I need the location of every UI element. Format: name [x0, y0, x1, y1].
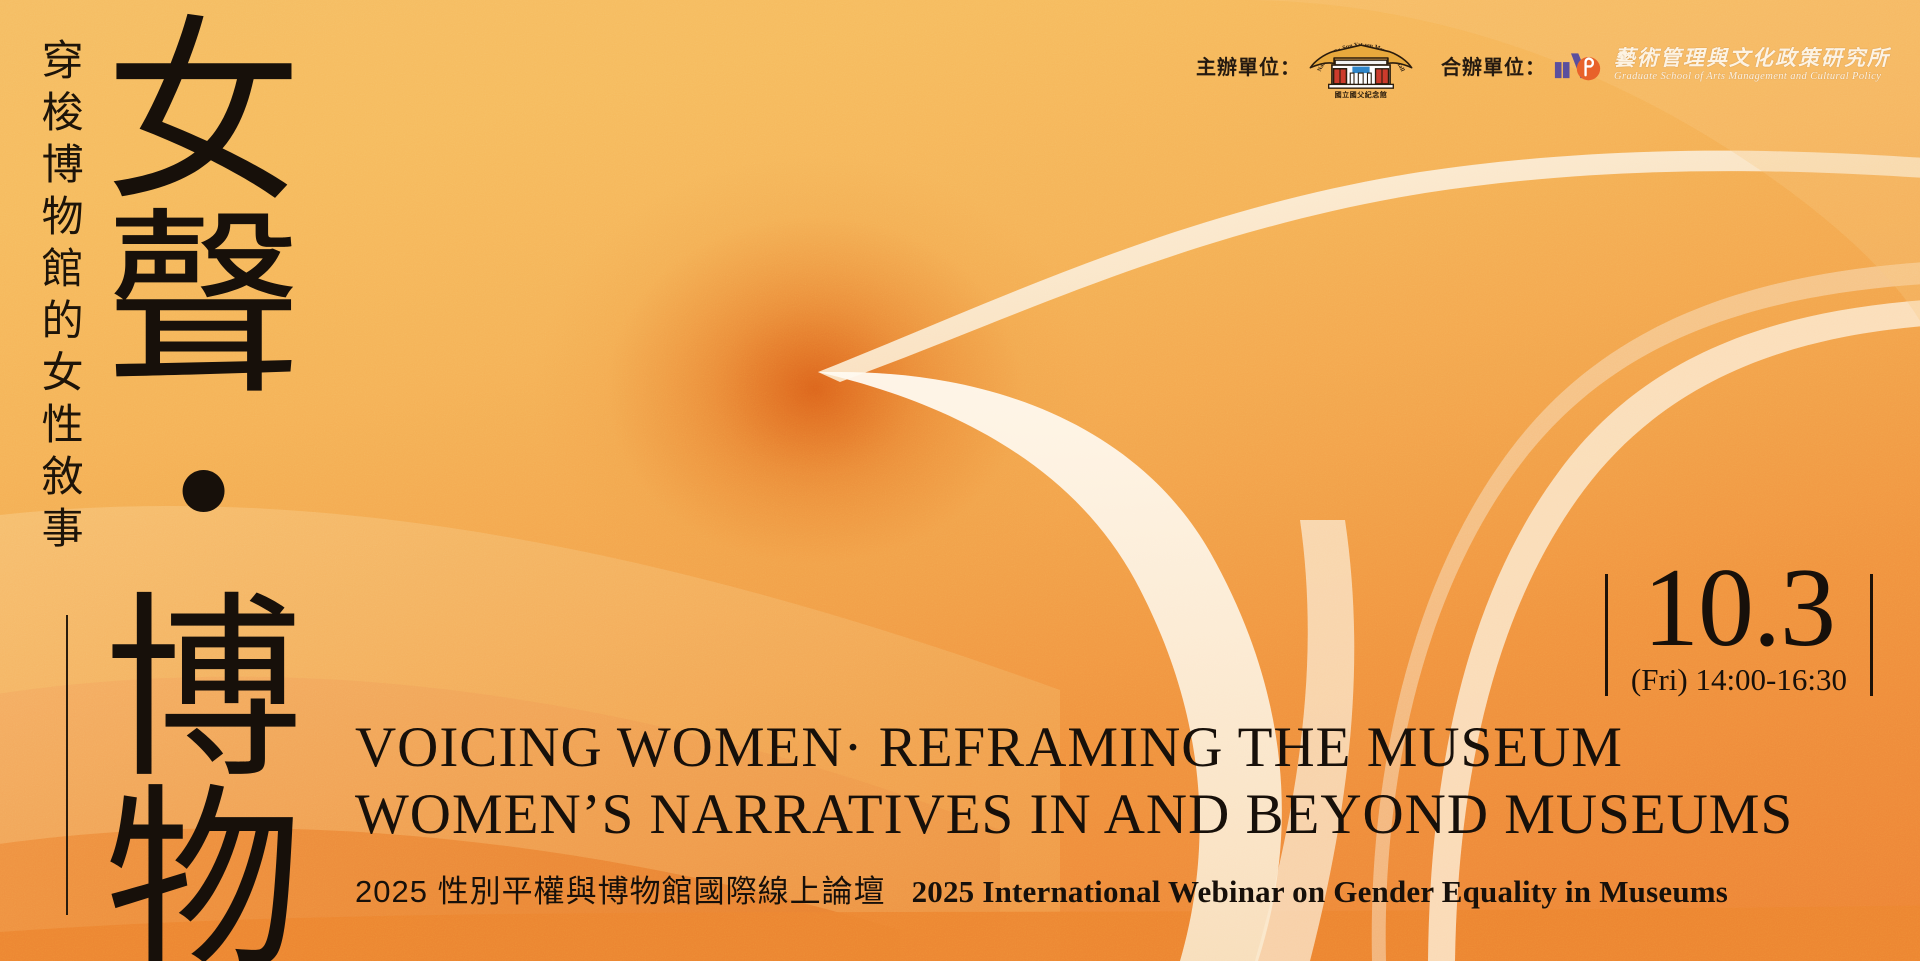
graduate-school-arts-management-logo: 藝術管理與文化政策研究所 Graduate School of Arts Man…	[1552, 46, 1890, 84]
vertical-main-title: 女聲・博物	[88, 8, 280, 961]
event-subtitle-chinese: 2025 性別平權與博物館國際線上論壇	[355, 866, 886, 911]
svg-text:國立國父紀念館: 國立國父紀念館	[1335, 90, 1388, 99]
mcp-monogram-icon	[1552, 46, 1606, 84]
national-dr-sun-yat-sen-memorial-hall-logo: National Dr. Sun Yat-sen Memorial Hall	[1307, 30, 1415, 100]
co-organiser-name-en: Graduate School of Arts Management and C…	[1614, 72, 1890, 83]
organisers-bar: 主辦單位： National Dr. Sun Yat-sen Memorial …	[1196, 30, 1890, 100]
co-organiser-logotext: 藝術管理與文化政策研究所 Graduate School of Arts Man…	[1614, 48, 1890, 83]
event-subtitle-english: 2025 International Webinar on Gender Equ…	[912, 874, 1728, 910]
co-organiser-label: 合辦單位：	[1441, 51, 1546, 80]
english-title-line-1: VOICING WOMEN· REFRAMING THE MUSEUM	[355, 719, 1892, 777]
english-title-line-2: WOMEN’S NARRATIVES IN AND BEYOND MUSEUMS	[355, 786, 1892, 844]
event-date-block: 10.3 (Fri) 14:00-16:30	[1605, 560, 1873, 698]
co-organiser-name-cn: 藝術管理與文化政策研究所	[1614, 48, 1890, 69]
co-organiser-group: 合辦單位： 藝術管理與文化政策研究所 Graduate School of Ar…	[1441, 46, 1890, 84]
organiser-label: 主辦單位：	[1196, 51, 1301, 80]
organiser-group: 主辦單位： National Dr. Sun Yat-sen Memorial …	[1196, 30, 1415, 100]
event-date-day: 10.3	[1631, 560, 1847, 656]
vertical-divider-rule	[66, 615, 68, 915]
poster-canvas: 主辦單位： National Dr. Sun Yat-sen Memorial …	[0, 0, 1920, 961]
event-subtitle-block: 2025 性別平權與博物館國際線上論壇 2025 International W…	[355, 866, 1892, 911]
event-date-time: (Fri) 14:00-16:30	[1631, 662, 1847, 698]
